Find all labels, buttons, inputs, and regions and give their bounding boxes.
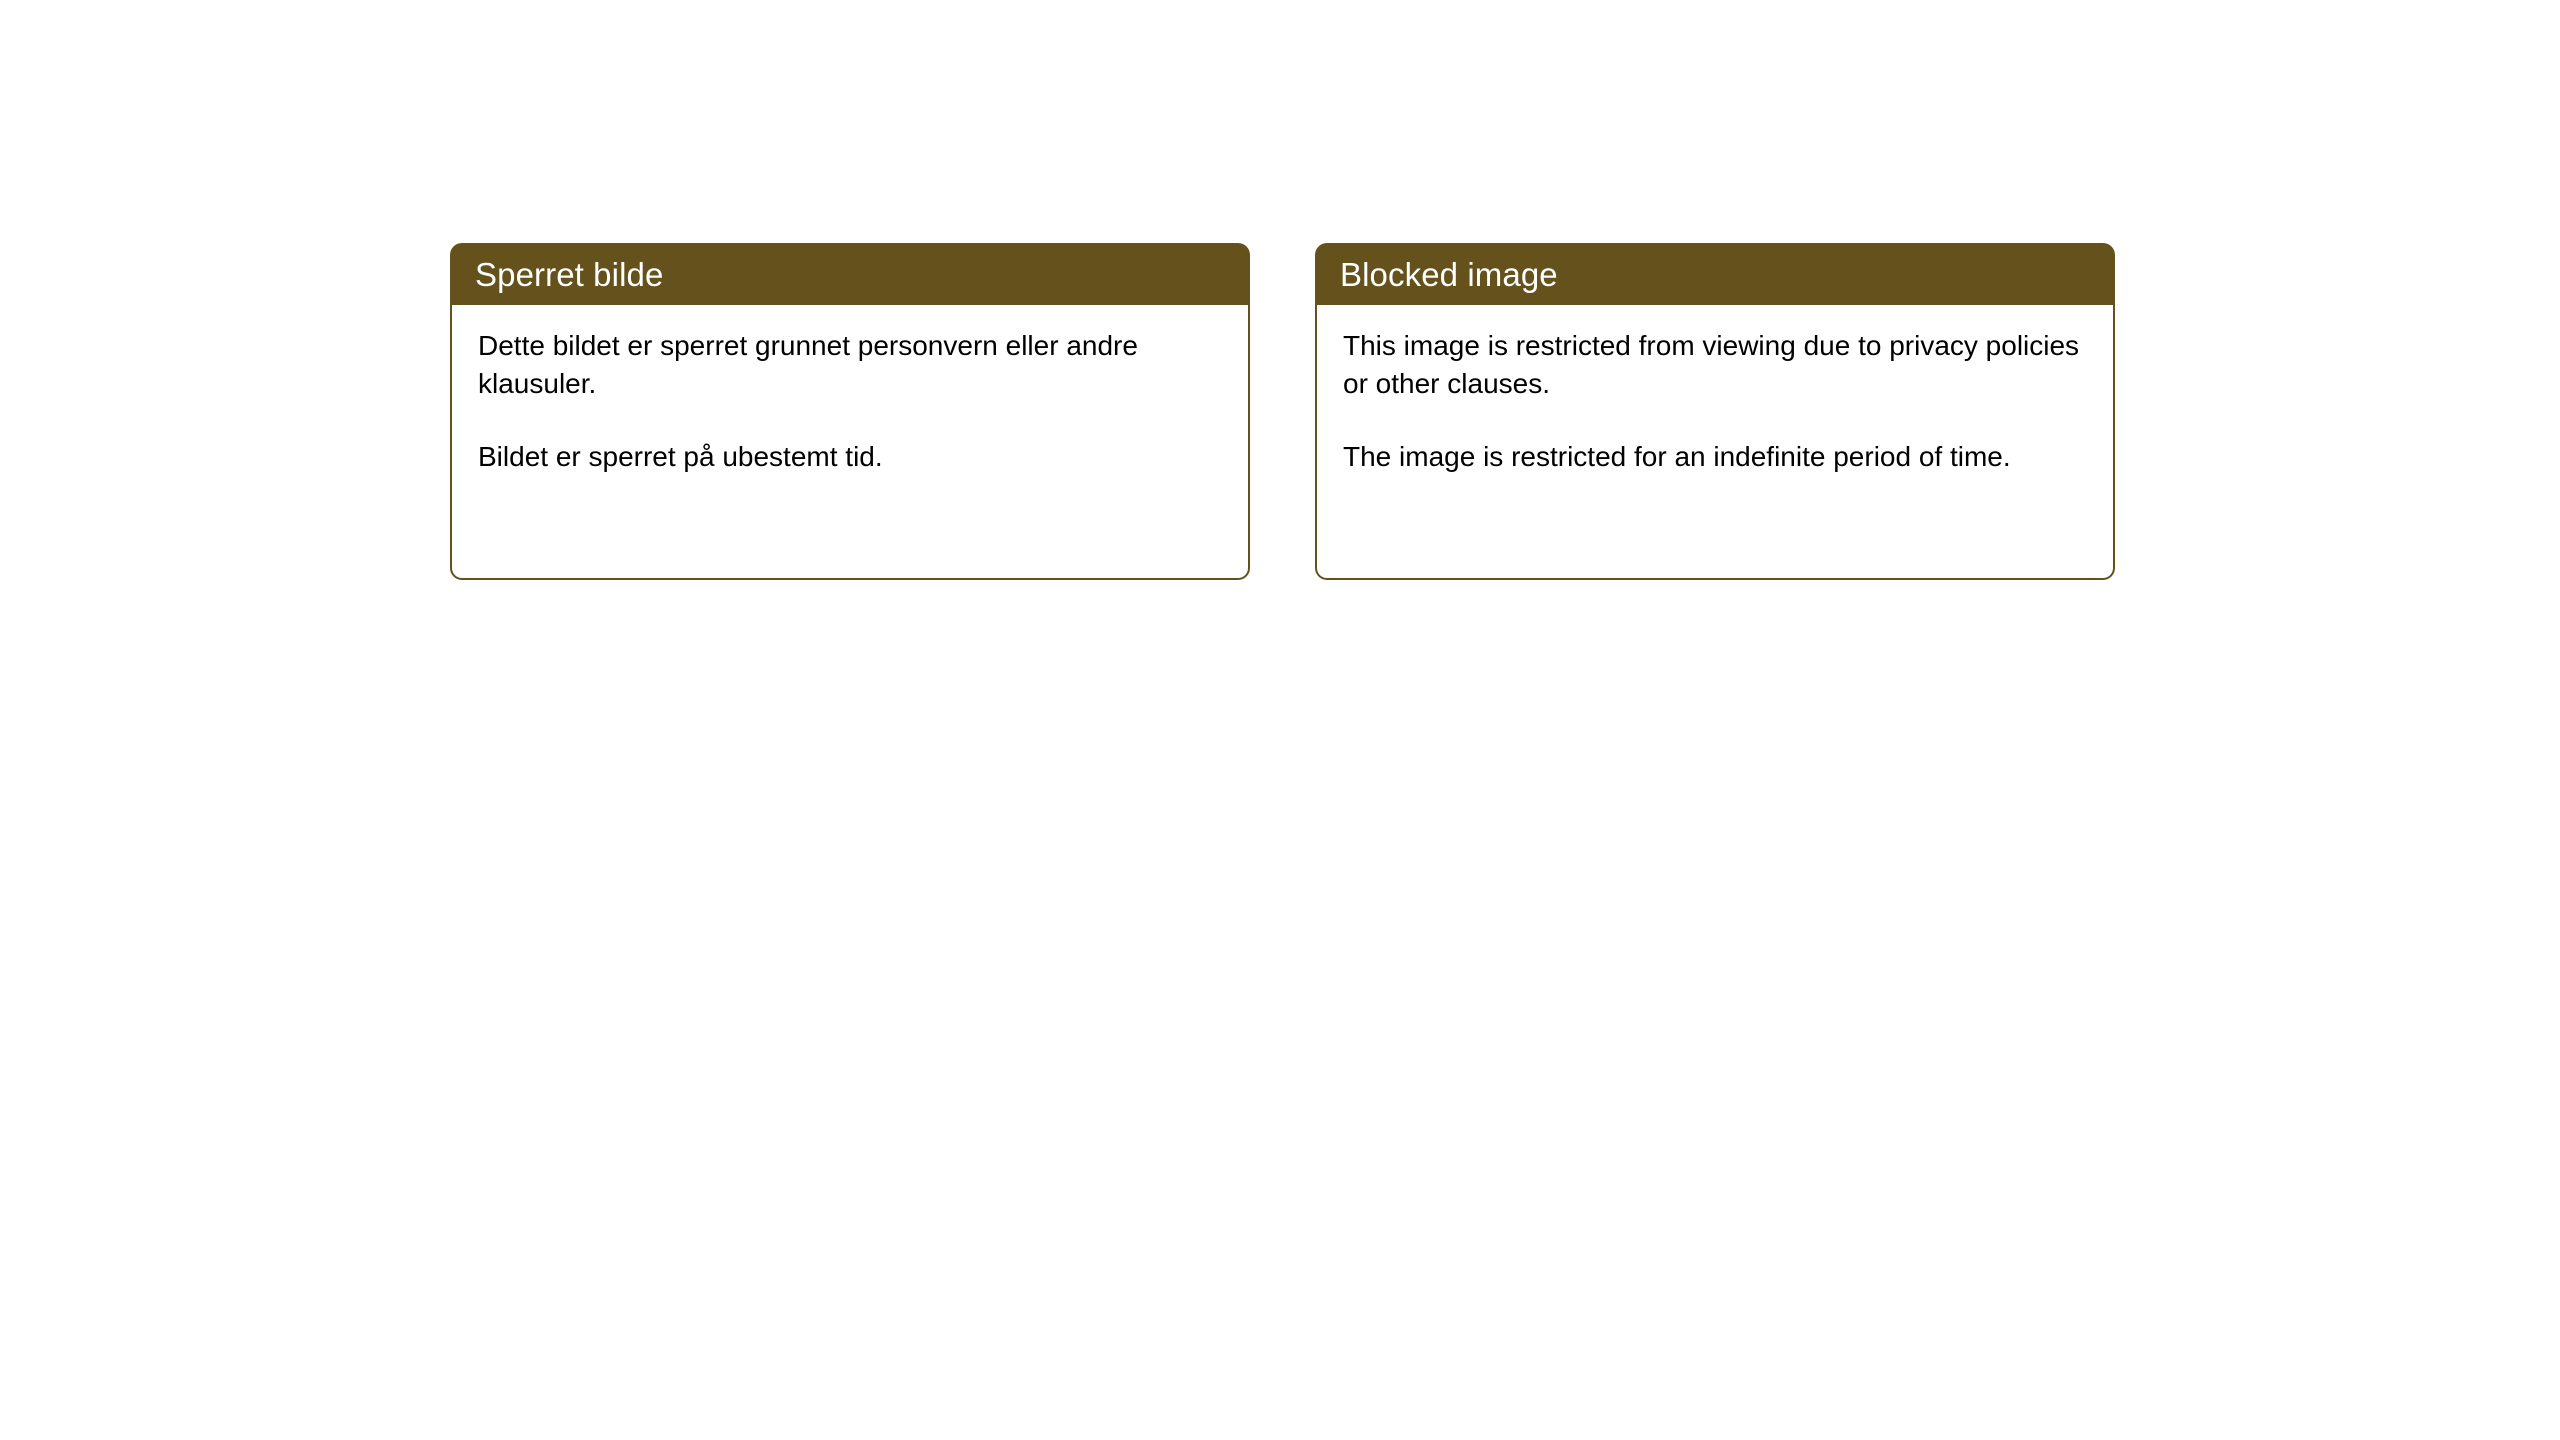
- card-paragraph-primary: This image is restricted from viewing du…: [1343, 327, 2087, 402]
- paragraph-spacer: [478, 402, 1222, 438]
- blocked-image-notice-card-english: Blocked image This image is restricted f…: [1315, 243, 2115, 580]
- card-paragraph-secondary: The image is restricted for an indefinit…: [1343, 438, 2087, 476]
- card-header: Blocked image: [1315, 243, 2115, 305]
- card-body: This image is restricted from viewing du…: [1315, 305, 2115, 580]
- card-paragraph-primary: Dette bildet er sperret grunnet personve…: [478, 327, 1222, 402]
- blocked-image-notice-card-norwegian: Sperret bilde Dette bildet er sperret gr…: [450, 243, 1250, 580]
- card-header: Sperret bilde: [450, 243, 1250, 305]
- page-canvas: Sperret bilde Dette bildet er sperret gr…: [0, 0, 2560, 1440]
- paragraph-spacer: [1343, 402, 2087, 438]
- card-title: Blocked image: [1340, 258, 1558, 291]
- card-title: Sperret bilde: [475, 258, 663, 291]
- card-body: Dette bildet er sperret grunnet personve…: [450, 305, 1250, 580]
- card-paragraph-secondary: Bildet er sperret på ubestemt tid.: [478, 438, 1222, 476]
